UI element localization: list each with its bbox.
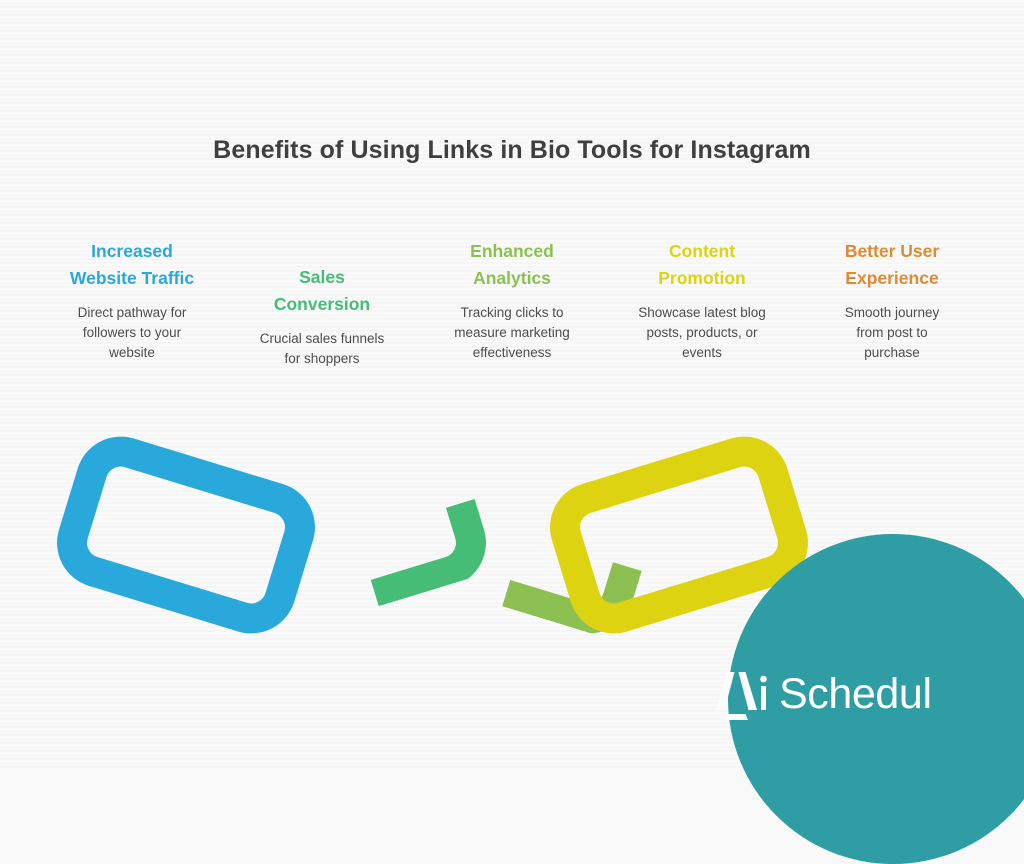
benefit-column-2: Sales Conversion Crucial sales funnels f… [230,238,414,369]
benefit-body-4: Showcase latest blog posts, products, or… [610,303,794,363]
benefit-heading-3: Enhanced Analytics [420,238,604,291]
benefit-body-3: Tracking clicks to measure marketing eff… [420,303,604,363]
benefit-heading-1: Increased Website Traffic [40,238,224,291]
aischedul-a-mark-icon [714,668,770,720]
benefit-column-5: Better User Experience Smooth journey fr… [800,238,984,363]
benefit-body-5: Smooth journey from post to purchase [800,303,984,363]
chain-link-olive [403,444,646,626]
benefit-body-1: Direct pathway for followers to your web… [40,303,224,363]
infographic-canvas: Benefits of Using Links in Bio Tools for… [0,0,1024,768]
logo-wordmark: Schedul [779,673,932,716]
benefit-column-1: Increased Website Traffic Direct pathway… [40,238,224,363]
benefit-heading-2: Sales Conversion [230,264,414,317]
benefit-heading-5: Better User Experience [800,238,984,291]
page-title: Benefits of Using Links in Bio Tools for… [0,136,1024,165]
benefit-column-3: Enhanced Analytics Tracking clicks to me… [420,238,604,363]
benefit-heading-4: Content Promotion [610,238,794,291]
benefit-body-2: Crucial sales funnels for shoppers [230,329,414,369]
benefit-columns: Increased Website Traffic Direct pathway… [40,238,984,388]
benefit-column-4: Content Promotion Showcase latest blog p… [610,238,794,363]
logo[interactable]: Schedul [714,668,932,720]
